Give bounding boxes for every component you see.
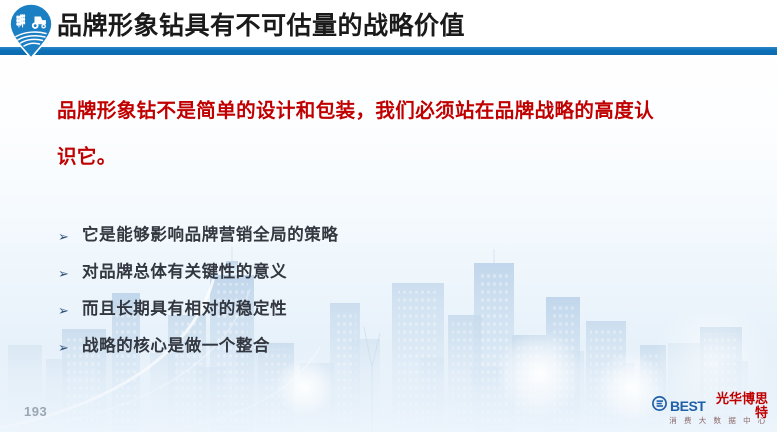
list-item: ➢ 而且长期具有相对的稳定性 <box>58 292 618 326</box>
header-divider <box>0 47 777 55</box>
presentation-slide: 品牌形象钻具有不可估量的战略价值 品牌形象钻不是简单的设计和包装，我们必须站在品… <box>0 0 777 432</box>
list-item: ➢ 对品牌总体有关键性的意义 <box>58 255 618 289</box>
arrow-bullet-icon: ➢ <box>58 304 82 317</box>
best-circle-e-icon <box>652 396 667 416</box>
bullet-list: ➢ 它是能够影响品牌营销全局的策略 ➢ 对品牌总体有关键性的意义 ➢ 而且长期具… <box>58 218 618 366</box>
arrow-bullet-icon: ➢ <box>58 341 82 354</box>
skyline-glow <box>276 358 334 416</box>
list-item-label: 它是能够影响品牌营销全局的策略 <box>82 223 339 247</box>
logo-subtitle: 消 费 大 数 据 中 心 <box>652 416 768 425</box>
lead-paragraph: 品牌形象钻不是简单的设计和包装，我们必须站在品牌战略的高度认识它。 <box>57 88 667 180</box>
location-pin-agriculture-icon <box>7 3 55 59</box>
page-title: 品牌形象钻具有不可估量的战略价值 <box>57 9 465 43</box>
corporate-logo: BEST 光华博思特 消 费 大 数 据 中 心 <box>652 397 768 425</box>
list-item-label: 而且长期具有相对的稳定性 <box>82 297 287 321</box>
list-item: ➢ 它是能够影响品牌营销全局的策略 <box>58 218 618 252</box>
list-item: ➢ 战略的核心是做一个整合 <box>58 329 618 363</box>
list-item-label: 对品牌总体有关键性的意义 <box>82 260 287 284</box>
arrow-bullet-icon: ➢ <box>58 267 82 280</box>
logo-latin-text: BEST <box>670 399 705 413</box>
list-item-label: 战略的核心是做一个整合 <box>82 334 270 358</box>
arrow-bullet-icon: ➢ <box>58 230 82 243</box>
page-number: 193 <box>24 404 47 419</box>
